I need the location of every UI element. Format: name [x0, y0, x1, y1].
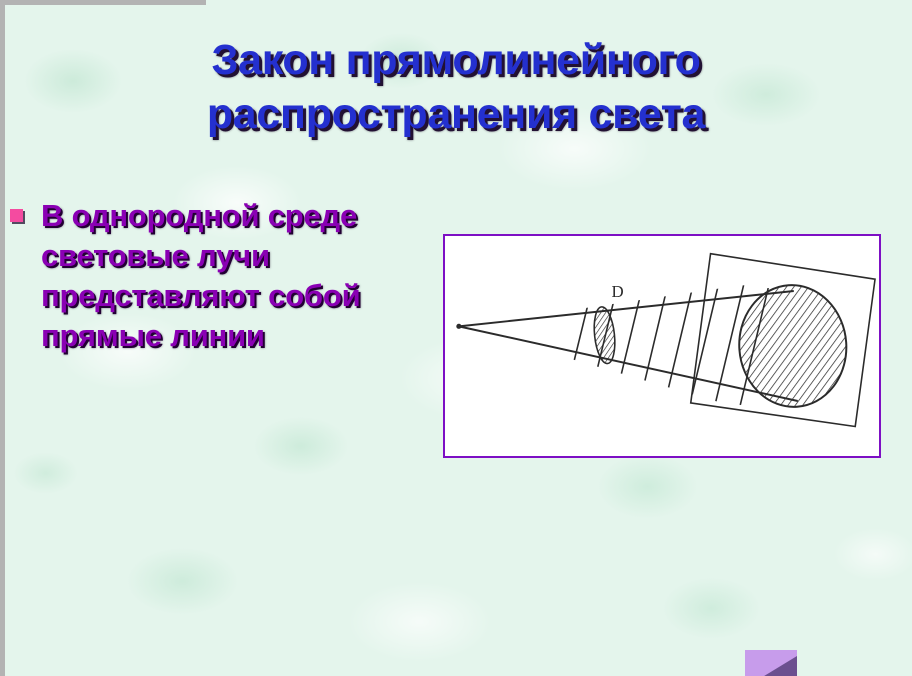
point-light-source — [456, 324, 461, 329]
figure-image-frame: D — [443, 234, 881, 458]
slide-title: Закон прямолинейного распространения све… — [40, 33, 872, 141]
bullet-item-text: В однородной среде световые лучи предста… — [41, 196, 430, 356]
back-navigation-button[interactable] — [745, 650, 797, 676]
bullet-list-item: В однородной среде световые лучи предста… — [10, 196, 430, 356]
aperture-label-D: D — [611, 282, 623, 301]
back-arrow-icon — [745, 650, 797, 676]
light-propagation-diagram: D — [445, 236, 879, 456]
slide-body-block: В однородной среде световые лучи предста… — [10, 196, 430, 356]
presentation-slide: Закон прямолинейного распространения све… — [0, 0, 912, 676]
window-chrome-top-strip — [0, 0, 206, 5]
window-chrome-left-strip — [0, 0, 5, 676]
square-bullet-icon — [10, 209, 23, 222]
